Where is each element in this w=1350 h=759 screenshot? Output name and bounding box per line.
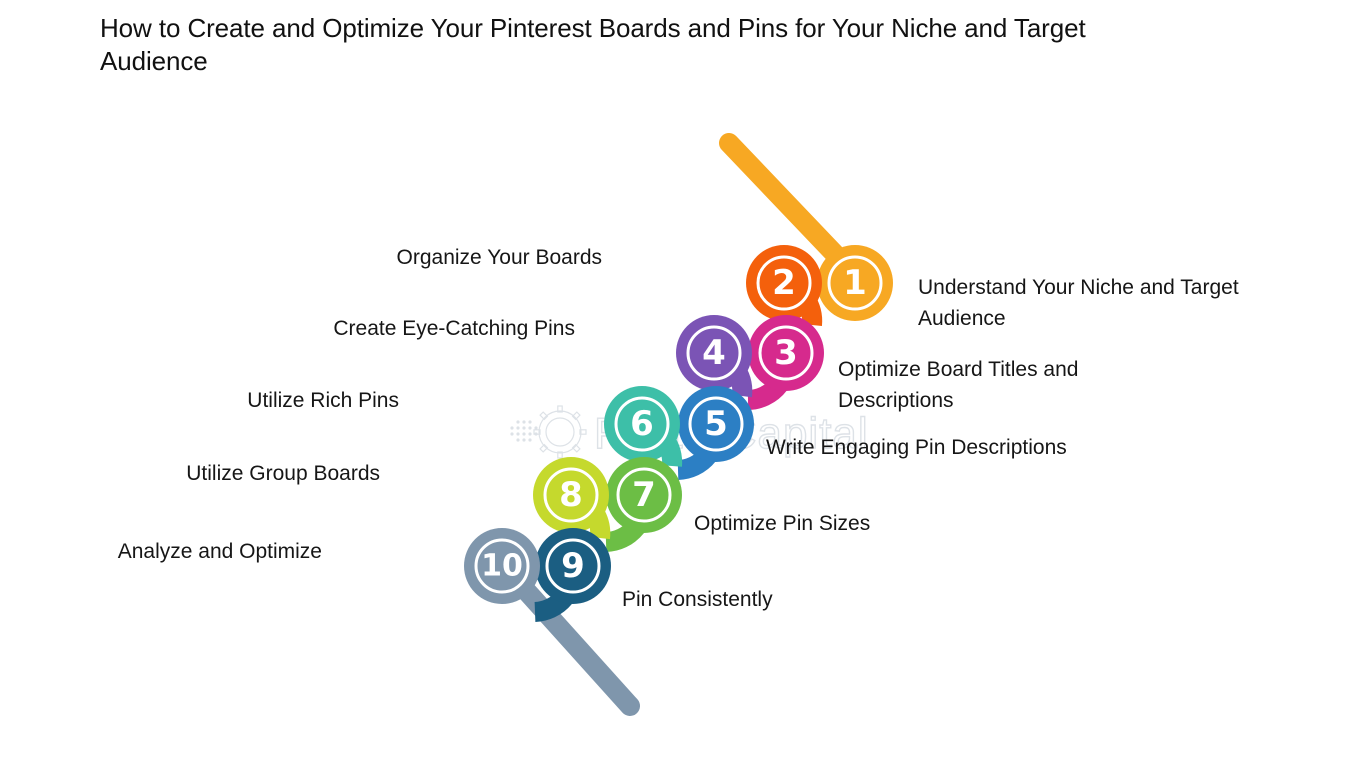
step-node-3[interactable]: 3 xyxy=(748,315,824,391)
step-label-8[interactable]: Utilize Group Boards xyxy=(0,458,380,489)
infographic-canvas: How to Create and Optimize Your Pinteres… xyxy=(0,0,1350,759)
step-number-8: 8 xyxy=(559,475,583,515)
step-label-6[interactable]: Utilize Rich Pins xyxy=(0,385,399,416)
step-label-4[interactable]: Create Eye-Catching Pins xyxy=(155,313,575,344)
step-number-1: 1 xyxy=(843,263,867,303)
step-node-5[interactable]: 5 xyxy=(678,386,754,462)
step-label-10[interactable]: Analyze and Optimize xyxy=(0,536,322,567)
step-node-4[interactable]: 4 xyxy=(676,315,752,391)
step-label-7[interactable]: Optimize Pin Sizes xyxy=(694,508,1114,539)
step-label-3[interactable]: Optimize Board Titles and Descriptions xyxy=(838,354,1158,416)
step-number-10: 10 xyxy=(481,549,523,584)
step-node-7[interactable]: 7 xyxy=(606,457,682,533)
step-number-5: 5 xyxy=(704,404,728,444)
step-number-3: 3 xyxy=(774,333,798,373)
step-number-9: 9 xyxy=(561,546,585,586)
step-number-6: 6 xyxy=(630,404,654,444)
step-label-1[interactable]: Understand Your Niche and Target Audienc… xyxy=(918,272,1248,334)
step-node-2[interactable]: 2 xyxy=(746,245,822,321)
gear-dots-icon xyxy=(510,406,586,458)
step-node-1[interactable]: 1 xyxy=(817,245,893,321)
step-label-9[interactable]: Pin Consistently xyxy=(622,584,1042,615)
step-number-4: 4 xyxy=(702,333,726,373)
step-label-2[interactable]: Organize Your Boards xyxy=(182,242,602,273)
step-node-9[interactable]: 9 xyxy=(535,528,611,604)
step-node-8[interactable]: 8 xyxy=(533,457,609,533)
step-node-10[interactable]: 10 xyxy=(464,528,540,604)
step-number-2: 2 xyxy=(772,263,796,303)
step-node-6[interactable]: 6 xyxy=(604,386,680,462)
step-number-7: 7 xyxy=(632,475,656,515)
step-label-5[interactable]: Write Engaging Pin Descriptions xyxy=(766,432,1186,463)
